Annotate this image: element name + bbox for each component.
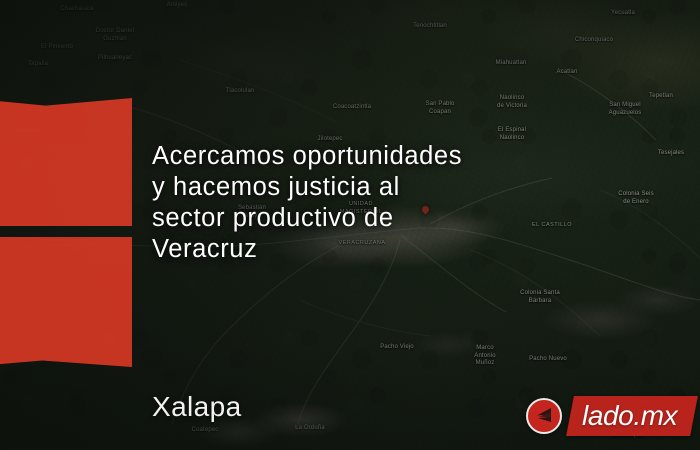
hero-card: ChachalacaAmiyesTenochtitlanYecuatlaDoct…: [0, 0, 700, 450]
decorative-chevron-top: [0, 98, 132, 226]
headline: Acercamos oportunidades y hacemos justic…: [152, 141, 592, 265]
headline-line-1: Acercamos oportunidades: [152, 141, 592, 172]
logo-wordmark: lado.mx: [582, 400, 677, 432]
site-logo[interactable]: lado.mx: [524, 392, 694, 444]
headline-line-2: y hacemos justicia al: [152, 172, 592, 203]
headline-line-3: sector productivo de: [152, 203, 592, 234]
decorative-chevron-bottom: [0, 237, 132, 367]
arrow-left-chevron-icon: [526, 398, 562, 434]
headline-line-4: Veracruz: [152, 234, 592, 265]
location-caption: Xalapa: [152, 391, 242, 423]
